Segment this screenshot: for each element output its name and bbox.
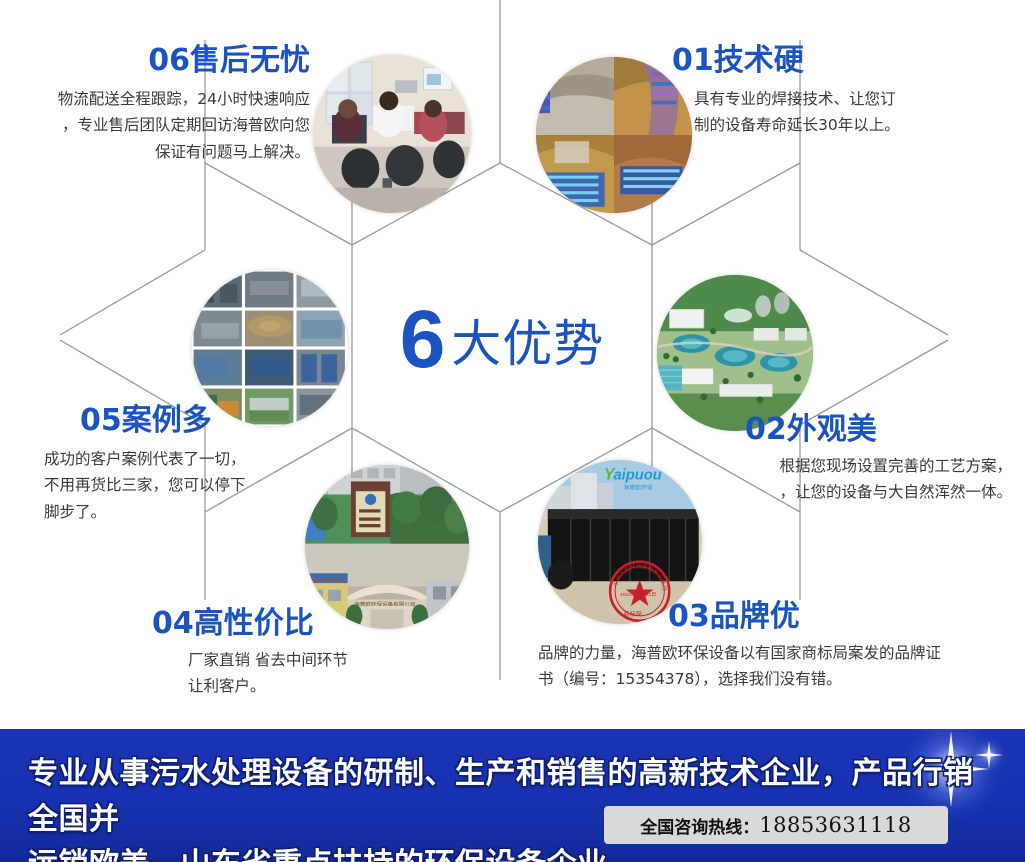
feature-desc-01: 具有专业的焊接技术、让您订 制的设备寿命延长30年以上。 bbox=[672, 86, 1002, 139]
feature-desc-line: ，让您的设备与大自然浑然一体。 bbox=[690, 479, 1012, 506]
center-label-text: 大优势 bbox=[451, 304, 604, 376]
feature-title-04: 高性价比 bbox=[194, 606, 314, 641]
center-number: 6 bbox=[400, 303, 444, 377]
hotline-box[interactable]: 全国咨询热线： 18853631118 bbox=[604, 806, 948, 844]
welded-pipe-joints-photo bbox=[536, 57, 692, 213]
feature-desc-line: 脚步了。 bbox=[44, 499, 344, 526]
feature-heading-04: 04高性价比 bbox=[152, 607, 482, 641]
hotline-number: 18853631118 bbox=[759, 813, 911, 837]
feature-title-05: 案例多 bbox=[122, 403, 212, 438]
feature-heading-06: 06售后无忧 bbox=[10, 44, 310, 78]
six-advantages-infographic: 6 大优势 bbox=[0, 0, 1025, 862]
office-staff-photo bbox=[313, 55, 471, 213]
feature-photo-05 bbox=[192, 270, 348, 426]
feature-desc-line: 书（编号：15354378），选择我们没有错。 bbox=[538, 666, 968, 693]
feature-desc-line: 让利客户。 bbox=[188, 673, 482, 700]
factory-gate-photo: 0536-6353818 海普欧环保设备有限公司 bbox=[305, 465, 469, 629]
feature-photo-04: 0536-6353818 海普欧环保设备有限公司 bbox=[305, 465, 469, 629]
svg-text:海普欧环保: 海普欧环保 bbox=[623, 484, 653, 492]
center-title: 6 大优势 bbox=[352, 285, 652, 395]
feature-desc-line: ，专业售后团队定期回访海普欧向您 bbox=[10, 112, 310, 139]
feature-desc-line: 根据您现场设置完善的工艺方案， bbox=[690, 453, 1012, 480]
feature-block-06: 06售后无忧 物流配送全程跟踪，24小时快速响应 ，专业售后团队定期回访海普欧向… bbox=[10, 44, 310, 166]
feature-heading-03: 03品牌优 bbox=[538, 600, 968, 634]
feature-number-05: 05 bbox=[80, 403, 122, 438]
feature-title-02: 外观美 bbox=[787, 412, 877, 447]
feature-desc-line: 厂家直销 省去中间环节 bbox=[188, 647, 482, 674]
feature-desc-line: 保证有问题马上解决。 bbox=[10, 139, 310, 166]
feature-number-02: 02 bbox=[745, 412, 787, 447]
feature-desc-04: 厂家直销 省去中间环节 让利客户。 bbox=[152, 647, 482, 700]
svg-text:2014年11月21日: 2014年11月21日 bbox=[620, 591, 656, 598]
feature-number-01: 01 bbox=[672, 43, 714, 78]
feature-title-03: 品牌优 bbox=[710, 599, 800, 634]
feature-desc-line: 具有专业的焊接技术、让您订 bbox=[694, 86, 1002, 113]
banner-line-2: 远销欧美，山东省重点扶持的环保设备企业。 bbox=[28, 842, 988, 862]
feature-number-06: 06 bbox=[148, 43, 190, 78]
feature-desc-line: 物流配送全程跟踪，24小时快速响应 bbox=[10, 86, 310, 113]
feature-heading-02: 02外观美 bbox=[690, 413, 1012, 447]
feature-desc-line: 成功的客户案例代表了一切， bbox=[44, 446, 344, 473]
sewage-treatment-plant-aerial-photo bbox=[657, 275, 813, 431]
feature-block-02: 02外观美 根据您现场设置完善的工艺方案， ，让您的设备与大自然浑然一体。 bbox=[690, 413, 1012, 506]
feature-title-06: 售后无忧 bbox=[190, 43, 310, 78]
feature-desc-03: 品牌的力量，海普欧环保设备以有国家商标局案发的品牌证 书（编号：15354378… bbox=[538, 640, 968, 693]
svg-text:aipuou: aipuou bbox=[613, 468, 661, 484]
feature-desc-line: 不用再货比三家，您可以停下 bbox=[44, 472, 344, 499]
feature-number-04: 04 bbox=[152, 606, 194, 641]
feature-desc-02: 根据您现场设置完善的工艺方案， ，让您的设备与大自然浑然一体。 bbox=[690, 453, 1012, 506]
feature-block-05: 05案例多 成功的客户案例代表了一切， 不用再货比三家，您可以停下 脚步了。 bbox=[44, 404, 344, 526]
svg-text:0536-6353818: 0536-6353818 bbox=[308, 577, 347, 583]
feature-desc-line: 品牌的力量，海普欧环保设备以有国家商标局案发的品牌证 bbox=[538, 640, 968, 667]
hotline-label: 全国咨询热线： bbox=[640, 813, 759, 838]
case-gallery-grid-photo bbox=[192, 270, 348, 426]
feature-block-01: 01技术硬 具有专业的焊接技术、让您订 制的设备寿命延长30年以上。 bbox=[672, 44, 1002, 139]
feature-desc-05: 成功的客户案例代表了一切， 不用再货比三家，您可以停下 脚步了。 bbox=[44, 446, 344, 526]
feature-photo-06 bbox=[313, 55, 471, 213]
feature-number-03: 03 bbox=[668, 599, 710, 634]
feature-heading-05: 05案例多 bbox=[44, 404, 344, 438]
feature-photo-02 bbox=[657, 275, 813, 431]
feature-desc-06: 物流配送全程跟踪，24小时快速响应 ，专业售后团队定期回访海普欧向您 保证有问题… bbox=[10, 86, 310, 166]
feature-desc-line: 制的设备寿命延长30年以上。 bbox=[694, 112, 1002, 139]
feature-title-01: 技术硬 bbox=[714, 43, 804, 78]
feature-photo-01 bbox=[536, 57, 692, 213]
feature-block-03: 03品牌优 品牌的力量，海普欧环保设备以有国家商标局案发的品牌证 书（编号：15… bbox=[538, 600, 968, 693]
feature-block-04: 04高性价比 厂家直销 省去中间环节 让利客户。 bbox=[152, 607, 482, 700]
feature-heading-01: 01技术硬 bbox=[672, 44, 1002, 78]
